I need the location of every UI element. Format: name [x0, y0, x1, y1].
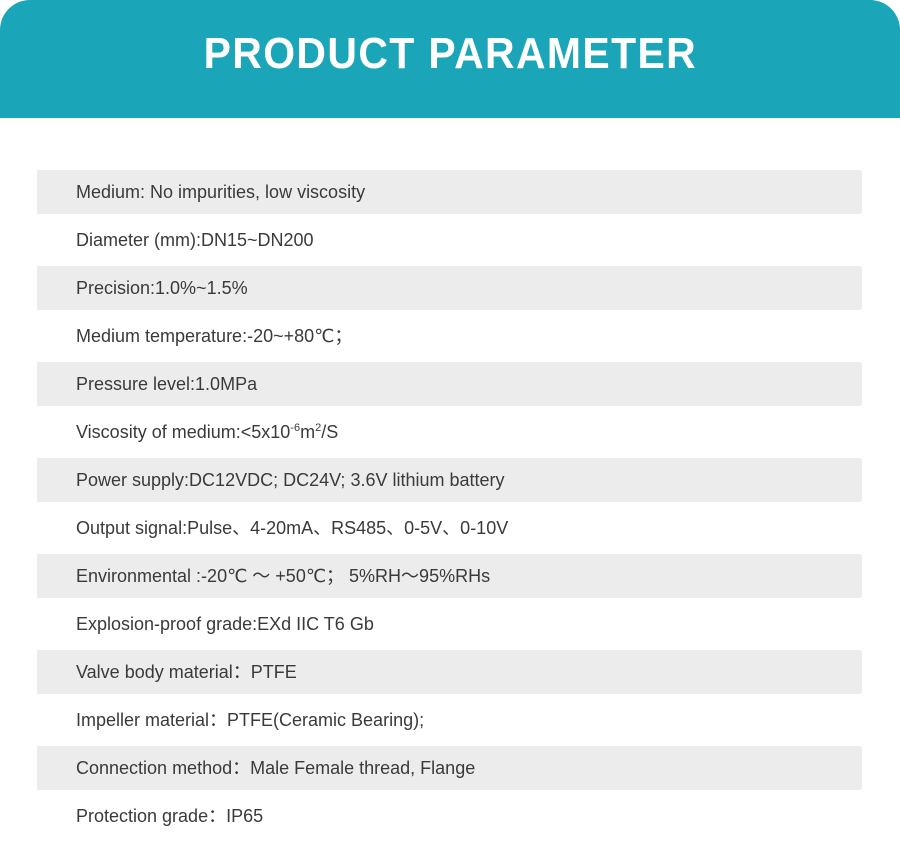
spec-row: Power supply:DC12VDC; DC24V; 3.6V lithiu…	[37, 458, 862, 502]
spec-row-exponent: -6	[290, 422, 300, 434]
spec-row-text: Medium temperature:-20~+80℃；	[76, 326, 352, 346]
spec-row: Precision:1.0%~1.5%	[37, 266, 862, 310]
spec-row-unit: m	[300, 422, 315, 442]
spec-row: Output signal:Pulse、4-20mA、RS485、0-5V、0-…	[37, 506, 862, 550]
spec-row: Connection method：Male Female thread, Fl…	[37, 746, 862, 790]
spec-row-text: Medium: No impurities, low viscosity	[76, 182, 365, 202]
header-banner: PRODUCT PARAMETER	[0, 0, 900, 118]
spec-row: Impeller material：PTFE(Ceramic Bearing);	[37, 698, 862, 742]
spec-row-text: Protection grade：IP65	[76, 806, 263, 826]
spec-row-text: Explosion-proof grade:EXd IIC T6 Gb	[76, 614, 374, 634]
spec-row: Explosion-proof grade:EXd IIC T6 Gb	[37, 602, 862, 646]
spec-row-text: Power supply:DC12VDC; DC24V; 3.6V lithiu…	[76, 470, 505, 490]
specification-list: Medium: No impurities, low viscosity Dia…	[37, 170, 862, 842]
spec-row-text: Viscosity of medium:<5x10	[76, 422, 290, 442]
spec-row-unit-2: /S	[321, 422, 338, 442]
spec-row-text: Impeller material：PTFE(Ceramic Bearing);	[76, 710, 424, 730]
spec-row-text: Diameter (mm):DN15~DN200	[76, 230, 314, 250]
spec-row: Viscosity of medium:<5x10-6m2/S	[37, 410, 862, 454]
spec-row: Pressure level:1.0MPa	[37, 362, 862, 406]
spec-row: Environmental :-20℃ ～ +50℃； 5%RH～95%RHs	[37, 554, 862, 598]
spec-row-text: Pressure level:1.0MPa	[76, 374, 257, 394]
spec-row-text: Connection method：Male Female thread, Fl…	[76, 758, 475, 778]
spec-row-text: Output signal:Pulse、4-20mA、RS485、0-5V、0-…	[76, 518, 508, 538]
spec-row: Protection grade：IP65	[37, 794, 862, 838]
spec-row: Valve body material：PTFE	[37, 650, 862, 694]
product-parameter-page: PRODUCT PARAMETER Medium: No impurities,…	[0, 0, 900, 850]
spec-row-text: Valve body material：PTFE	[76, 662, 297, 682]
spec-row-text: Environmental :-20℃ ～ +50℃； 5%RH～95%RHs	[76, 566, 490, 586]
page-title: PRODUCT PARAMETER	[203, 32, 697, 76]
spec-row: Diameter (mm):DN15~DN200	[37, 218, 862, 262]
spec-row: Medium temperature:-20~+80℃；	[37, 314, 862, 358]
spec-row-text: Precision:1.0%~1.5%	[76, 278, 248, 298]
spec-row: Medium: No impurities, low viscosity	[37, 170, 862, 214]
